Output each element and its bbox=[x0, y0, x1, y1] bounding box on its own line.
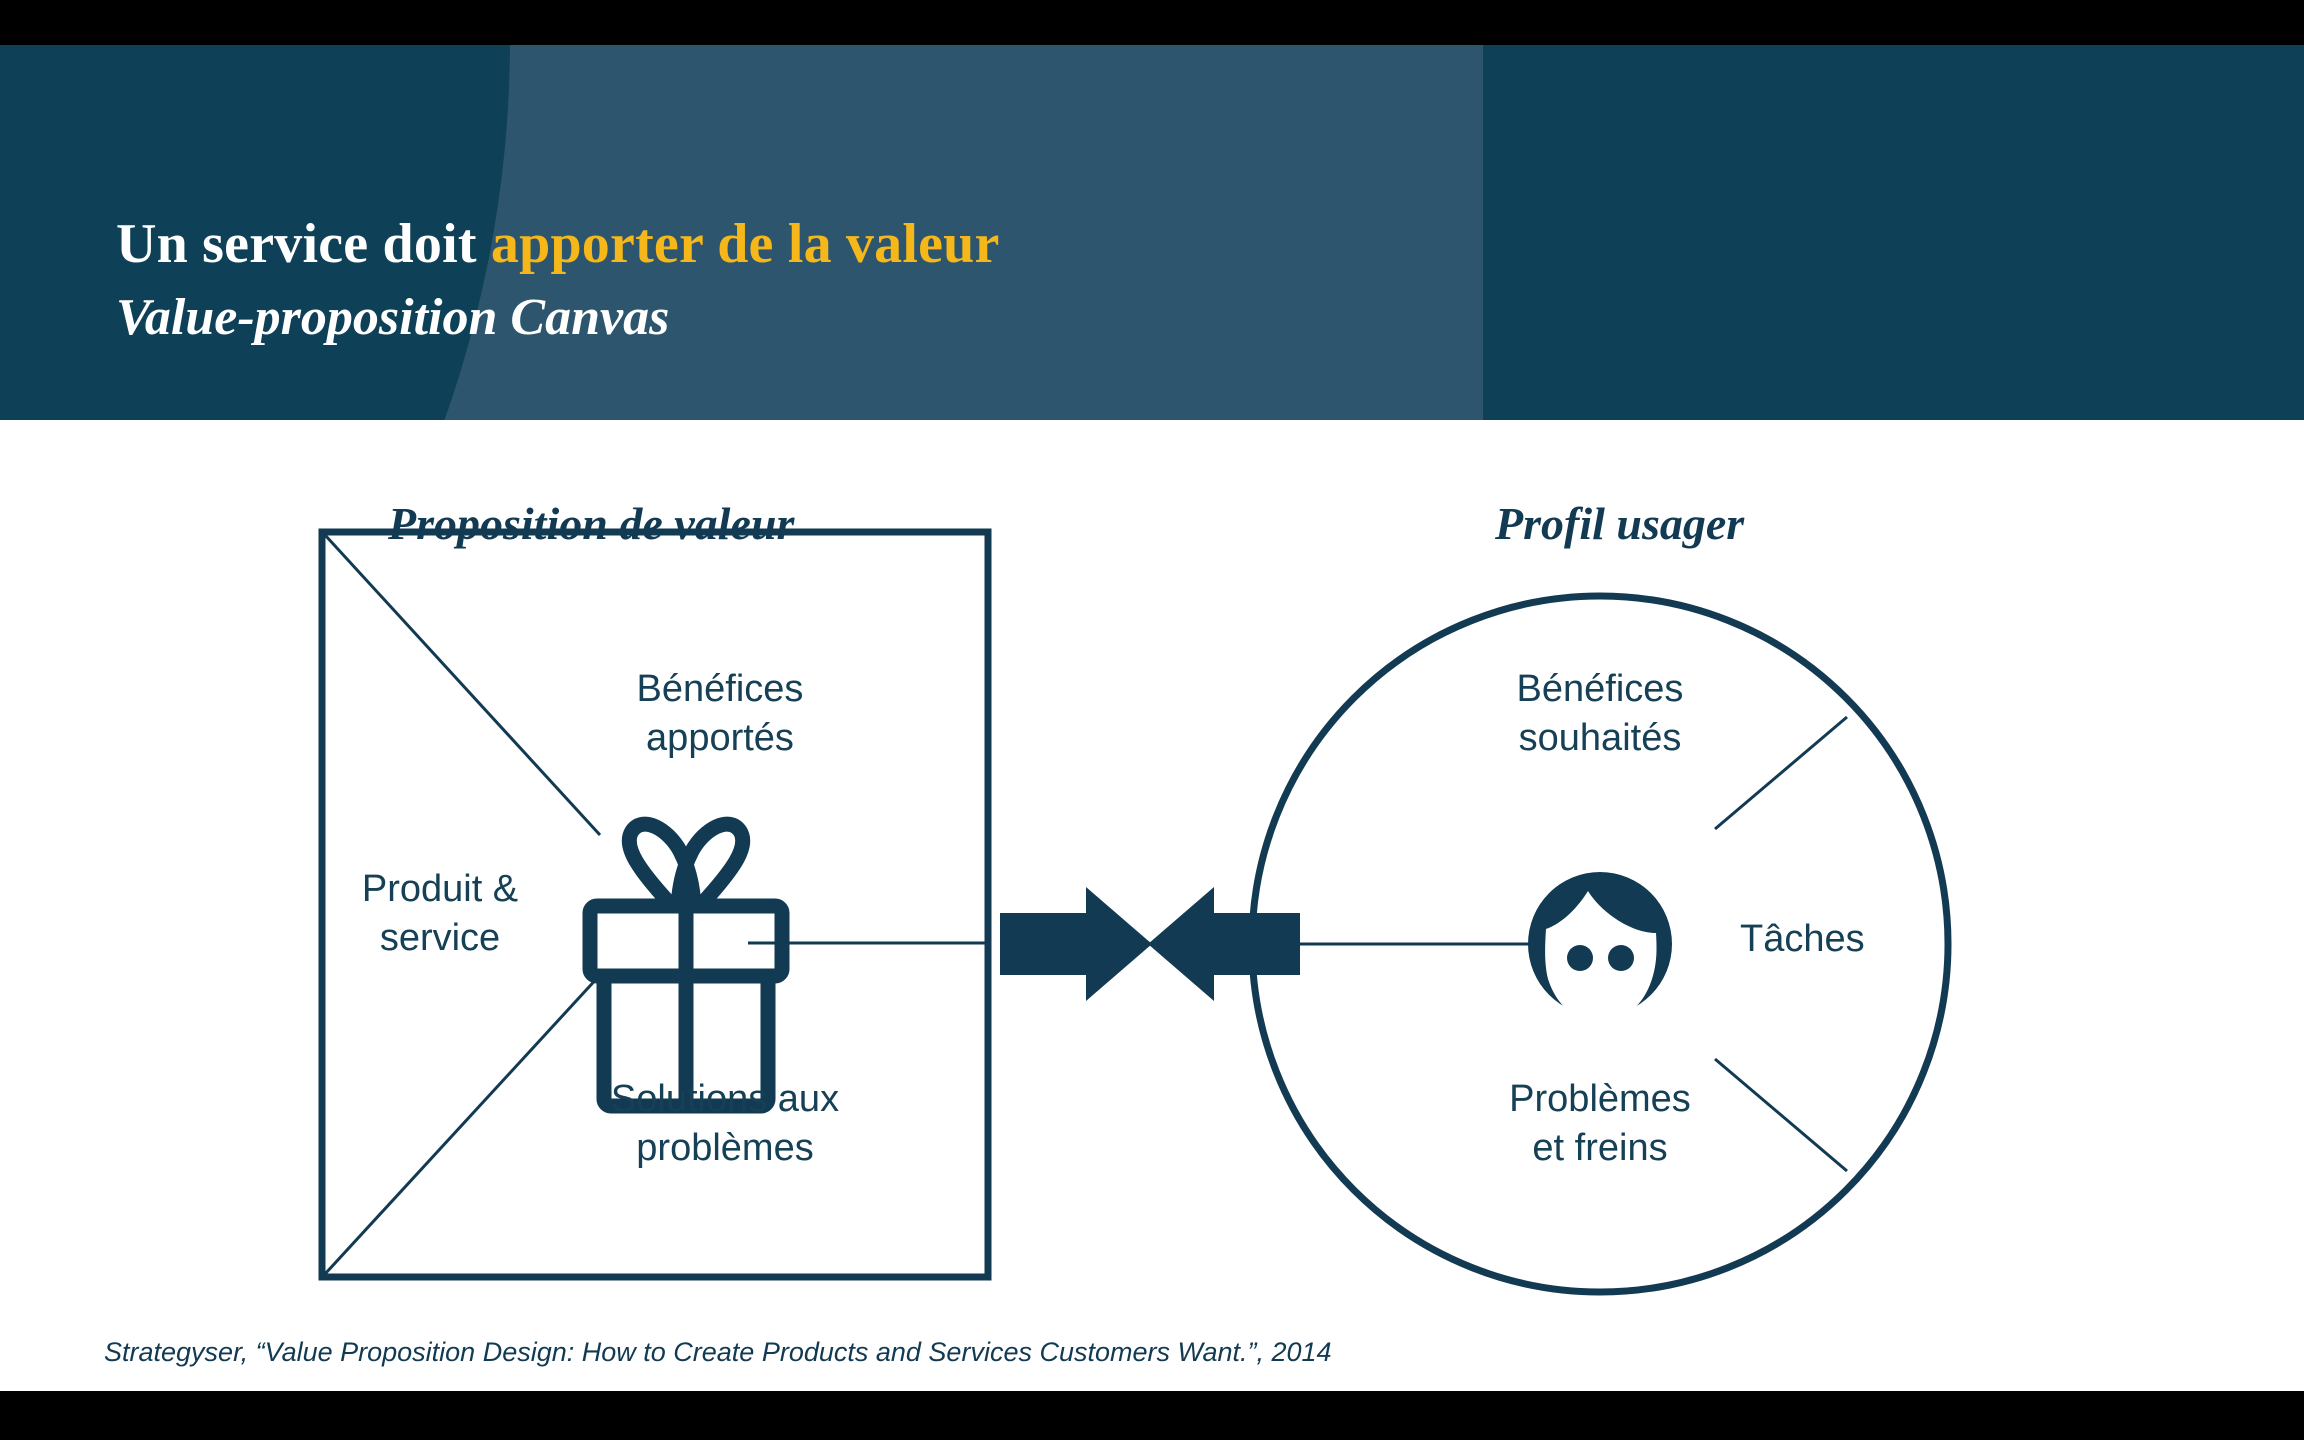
label-taches: Tâches bbox=[1740, 915, 1960, 964]
header-dark-right-block bbox=[1483, 45, 2304, 420]
source-citation: Strategyser, “Value Proposition Design: … bbox=[104, 1337, 1332, 1368]
slide-title-part1: Un service doit bbox=[116, 213, 491, 275]
label-benefices-souhaites: Bénéfices souhaités bbox=[1440, 665, 1760, 762]
label-solutions-aux-problemes: Solutions aux problèmes bbox=[550, 1075, 900, 1172]
title-block: Un service doit apporter de la valeur Va… bbox=[116, 213, 1000, 349]
arrow-right-icon bbox=[1000, 887, 1152, 1001]
right-section-title: Profil usager bbox=[1495, 497, 1744, 550]
label-produit-service: Produit & service bbox=[300, 865, 580, 962]
user-face-eye-right bbox=[1608, 945, 1634, 971]
user-face-eye-left bbox=[1567, 945, 1593, 971]
gift-icon bbox=[590, 824, 782, 1106]
left-section-title: Proposition de valeur bbox=[388, 497, 794, 550]
slide-subtitle: Value-proposition Canvas bbox=[116, 287, 1000, 349]
square-diagonal-top-left bbox=[325, 535, 600, 835]
label-benefices-apportes: Bénéfices apportés bbox=[560, 665, 880, 762]
slide-title-accent: apporter de la valeur bbox=[491, 213, 1000, 275]
label-problemes-et-freins: Problèmes et freins bbox=[1440, 1075, 1760, 1172]
arrow-left-icon bbox=[1148, 887, 1300, 1001]
user-face-icon bbox=[1528, 872, 1672, 1022]
slide-title: Un service doit apporter de la valeur bbox=[116, 213, 1000, 277]
header-band: Un service doit apporter de la valeur Va… bbox=[0, 45, 2304, 420]
slide-canvas: Un service doit apporter de la valeur Va… bbox=[0, 45, 2304, 1391]
